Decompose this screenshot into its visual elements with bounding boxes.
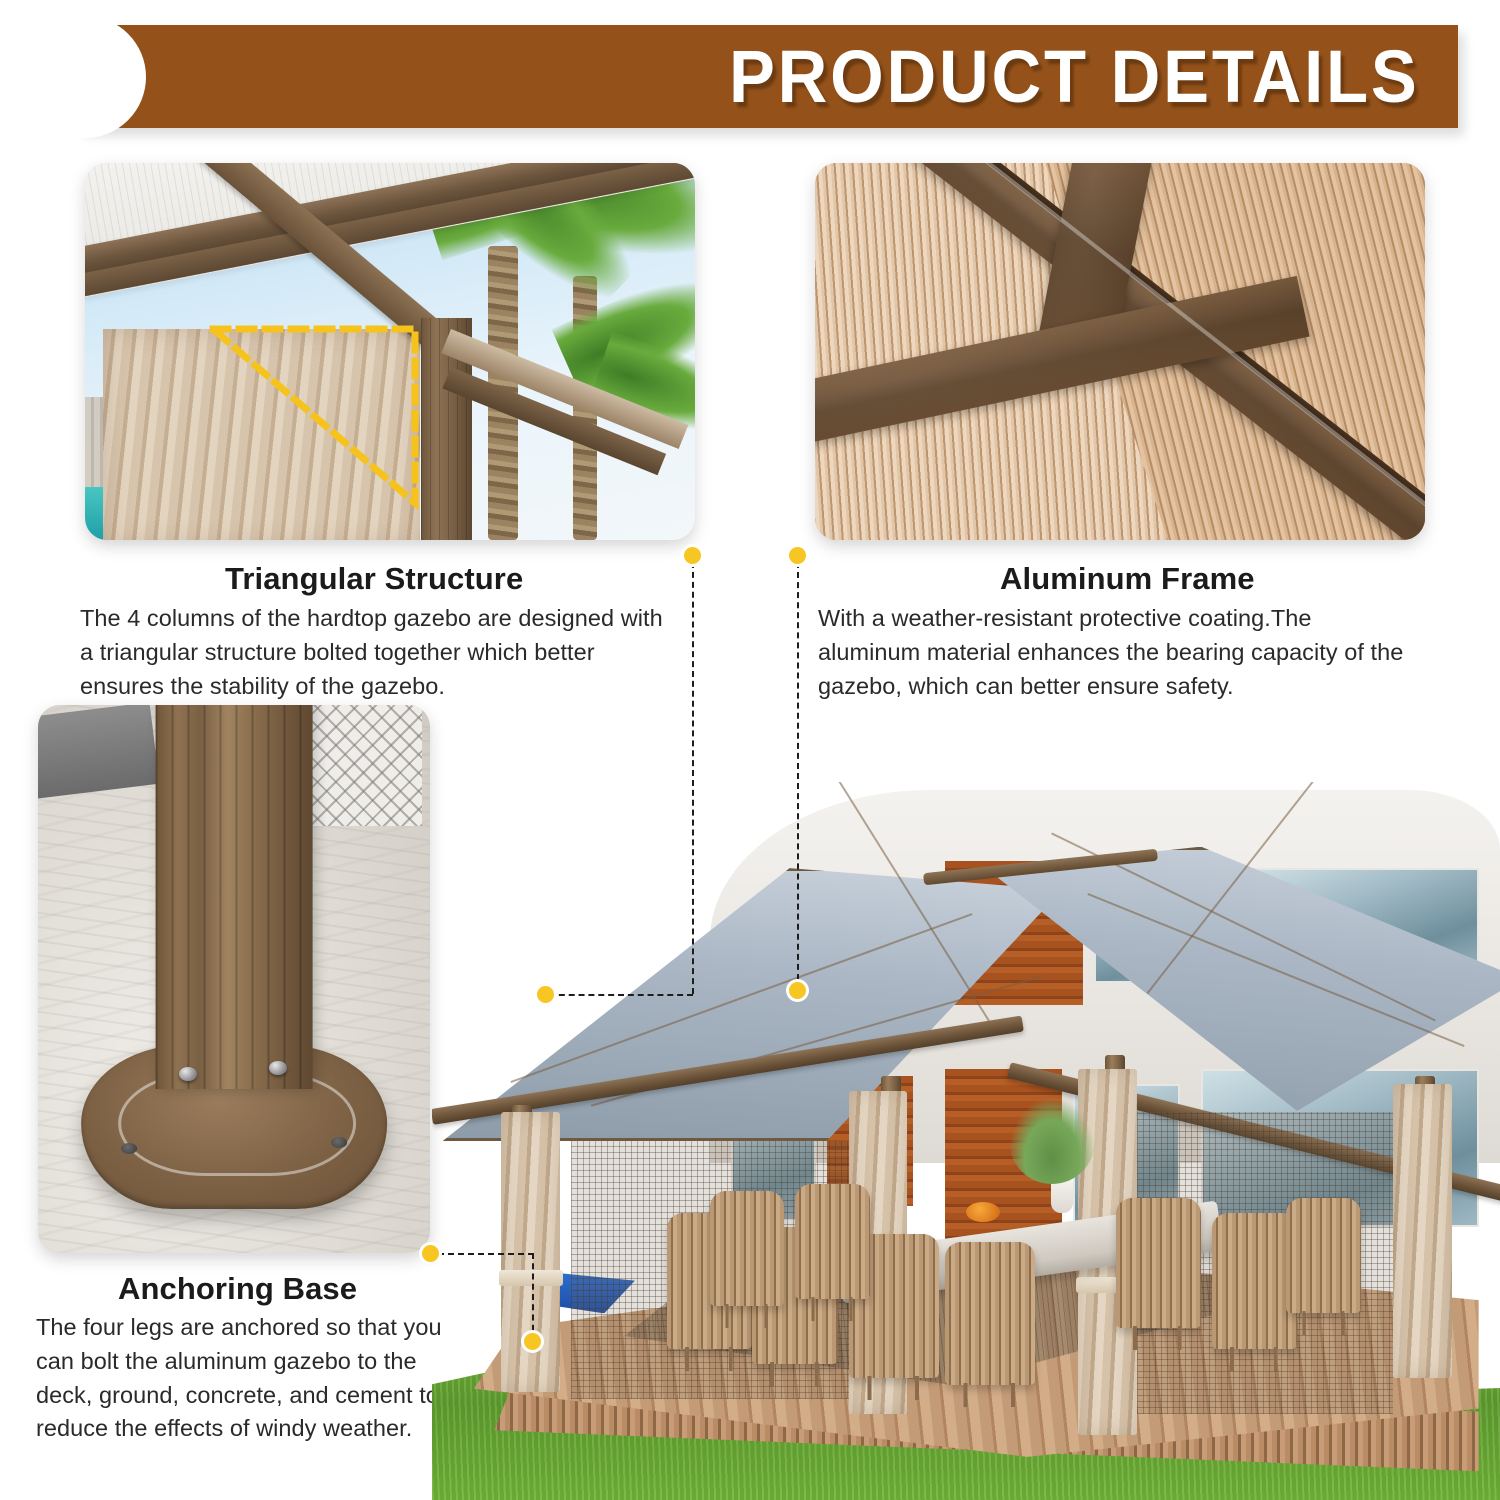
callout-line-triangular-vertical — [692, 562, 694, 994]
dining-chair — [1286, 1198, 1361, 1313]
potted-plant — [1009, 1098, 1095, 1184]
product-details-page: PRODUCT DETAILS — [0, 0, 1500, 1500]
feature-title-anchoring-base: Anchoring Base — [118, 1271, 357, 1307]
dining-chair — [1116, 1198, 1201, 1327]
callout-dot-triangular-target[interactable] — [537, 986, 554, 1003]
callout-line-aluminum-vertical — [797, 562, 799, 990]
anchor-bolt-hole — [331, 1137, 347, 1148]
chair-legs — [1297, 1311, 1351, 1335]
dining-chair — [710, 1191, 785, 1306]
feature-body-aluminum-frame: With a weather-resistant protective coat… — [818, 602, 1418, 703]
gazebo-post — [156, 705, 313, 1089]
decorative-lattice-panel — [305, 705, 423, 826]
callout-dot-triangular-top[interactable] — [684, 547, 701, 564]
dining-chair — [795, 1184, 870, 1299]
feature-image-aluminum-frame — [815, 163, 1425, 540]
gazebo-curtain-far-right — [1393, 1084, 1452, 1378]
callout-dot-anchor-target[interactable] — [524, 1333, 541, 1350]
feature-title-triangular-structure: Triangular Structure — [225, 561, 523, 597]
chair-legs — [806, 1297, 860, 1321]
banner-notch-shape — [24, 16, 146, 138]
anchor-bolt-icon — [179, 1067, 197, 1081]
triangle-highlight-icon — [85, 163, 695, 540]
feature-title-aluminum-frame: Aluminum Frame — [1000, 561, 1255, 597]
header-banner: PRODUCT DETAILS — [78, 25, 1458, 128]
hero-gazebo-image — [432, 782, 1500, 1500]
callout-line-anchor-horizontal — [438, 1253, 534, 1255]
chair-legs — [679, 1347, 741, 1371]
chair-legs — [764, 1362, 826, 1386]
anchor-bolt-hole — [121, 1143, 137, 1154]
callout-line-triangular-horizontal — [549, 994, 693, 996]
feature-image-anchoring-base — [38, 705, 430, 1253]
feature-image-triangular-structure — [85, 163, 695, 540]
fruit-bowl — [966, 1202, 1000, 1222]
callout-dot-aluminum-top[interactable] — [789, 547, 806, 564]
callout-dot-aluminum-target[interactable] — [789, 982, 806, 999]
chair-legs — [1224, 1347, 1286, 1371]
page-title: PRODUCT DETAILS — [729, 40, 1420, 114]
dining-chair — [1212, 1213, 1297, 1349]
dining-chair — [945, 1242, 1036, 1386]
feature-body-triangular-structure: The 4 columns of the hardtop gazebo are … — [80, 602, 680, 703]
chair-legs — [1127, 1326, 1189, 1350]
chair-legs — [861, 1376, 926, 1400]
chair-legs — [957, 1383, 1022, 1407]
callout-line-anchor-vertical — [532, 1253, 534, 1341]
chair-legs — [720, 1304, 774, 1328]
feature-body-anchoring-base: The four legs are anchored so that you c… — [36, 1311, 456, 1446]
callout-dot-anchor-source[interactable] — [422, 1245, 439, 1262]
